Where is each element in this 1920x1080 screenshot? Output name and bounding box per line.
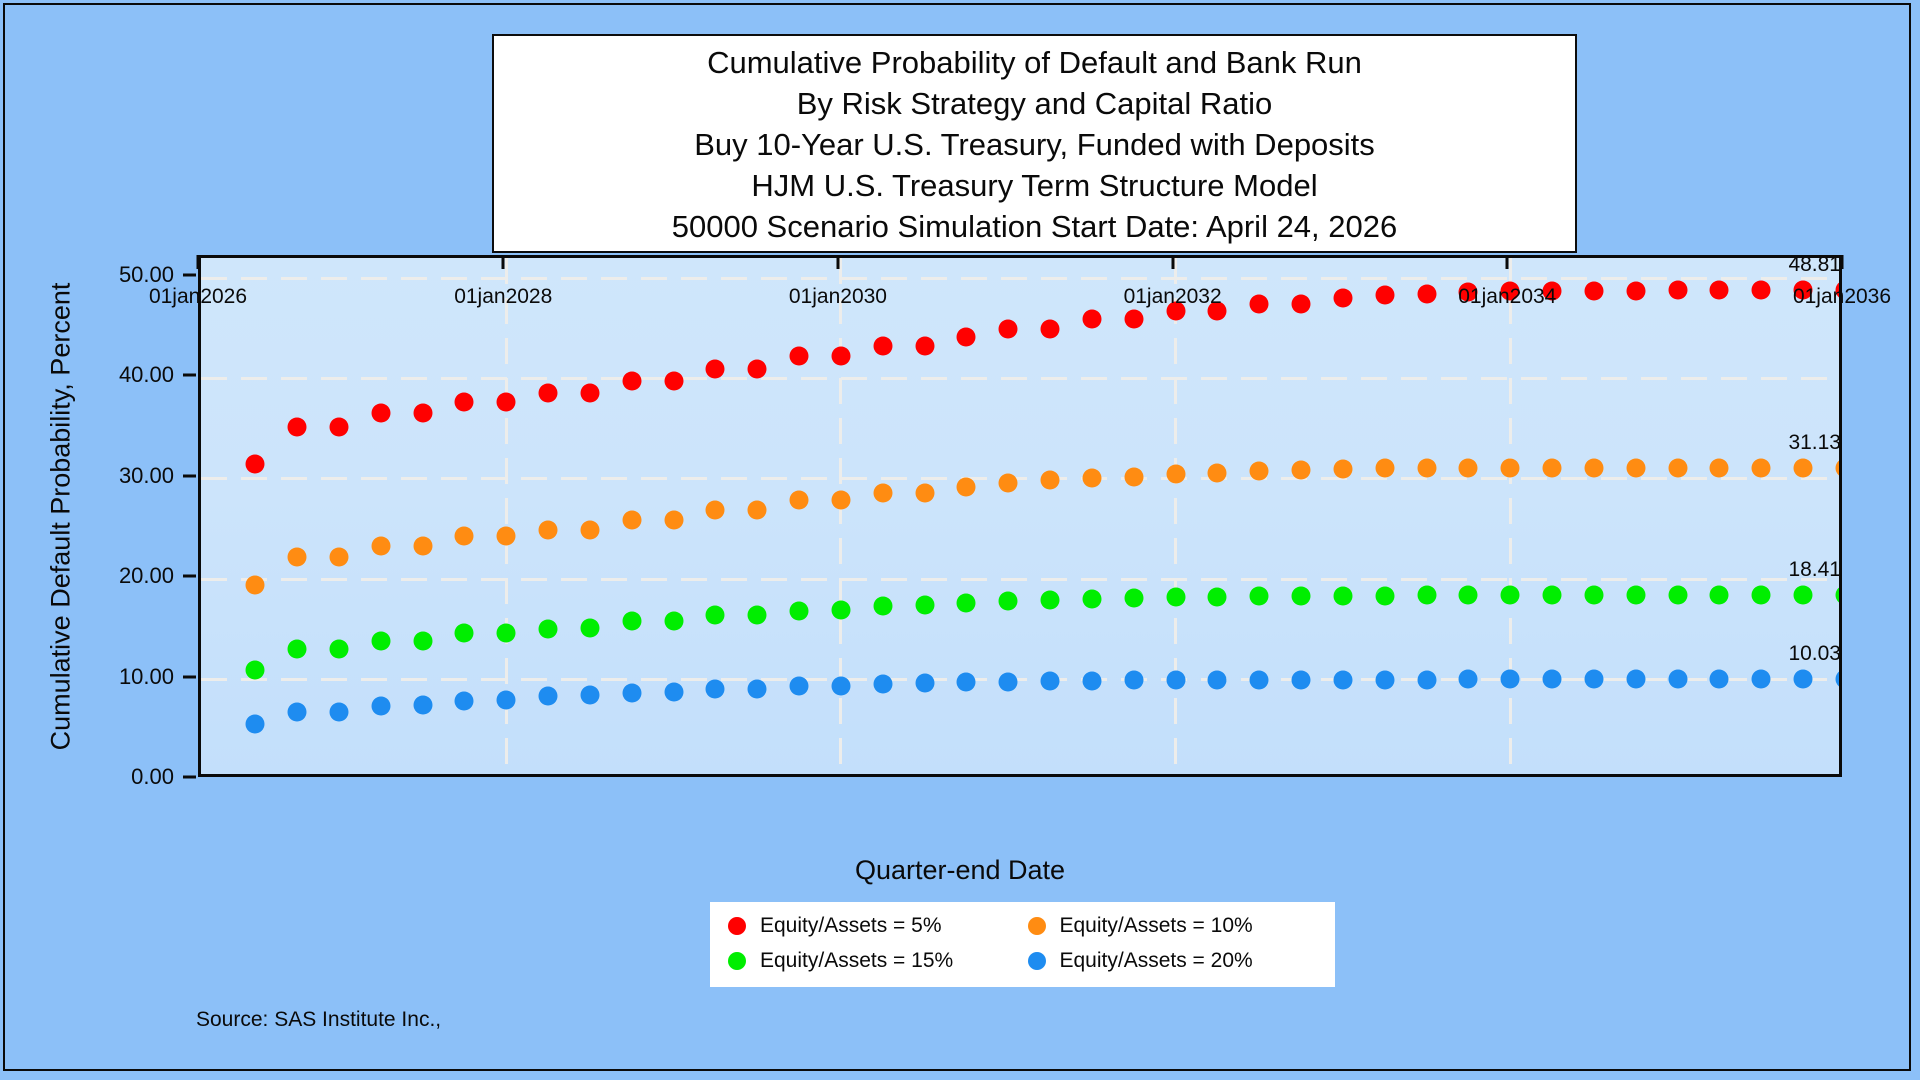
data-point [706,606,725,625]
legend-item-equity-5[interactable]: Equity/Assets = 5% [728,914,1018,938]
data-point [664,683,683,702]
data-point [1459,586,1478,605]
legend-marker-icon-orange [1028,917,1046,935]
data-point [1543,670,1562,689]
data-point [329,639,348,658]
data-point [497,623,516,642]
data-point [455,526,474,545]
data-point [1250,587,1269,606]
data-point [622,683,641,702]
data-point [1041,590,1060,609]
data-point [1333,459,1352,478]
data-point [622,511,641,530]
legend-marker-icon-red [728,917,746,935]
data-point [329,547,348,566]
data-point [329,418,348,437]
data-point [455,692,474,711]
data-point [748,605,767,624]
data-point [1752,670,1771,689]
y-tick-mark [183,274,196,277]
x-axis-title: Quarter-end Date [0,855,1920,886]
data-point [1292,587,1311,606]
data-point [246,454,265,473]
data-point [957,673,976,692]
data-point [1794,586,1813,605]
data-point [1626,458,1645,477]
series-end-label: 10.03 [1788,642,1841,666]
data-point [748,359,767,378]
chart-legend: Equity/Assets = 5% Equity/Assets = 10% E… [710,902,1335,987]
data-point [1250,670,1269,689]
y-tick-label: 50.00 [0,262,174,288]
gridline-horizontal [201,477,1839,480]
gridline-vertical [1509,258,1512,774]
data-point [371,404,390,423]
data-point [1082,589,1101,608]
data-point [288,639,307,658]
data-point [664,611,683,630]
x-tick-label: 01jan2030 [789,285,887,309]
data-point [1292,294,1311,313]
data-point [1668,670,1687,689]
data-point [1124,589,1143,608]
gridline-horizontal [201,277,1839,280]
data-point [497,526,516,545]
x-tick-label: 01jan2034 [1458,285,1556,309]
y-tick-mark [183,575,196,578]
data-point [999,473,1018,492]
data-point [1082,671,1101,690]
x-tick-label: 01jan2032 [1124,285,1222,309]
data-point [831,601,850,620]
data-point [1124,468,1143,487]
data-point [1584,670,1603,689]
y-tick-mark [183,776,196,779]
data-point [1208,587,1227,606]
y-axis-title: Cumulative Default Probability, Percent [44,255,78,777]
data-point [539,383,558,402]
data-point [1417,459,1436,478]
data-point [246,660,265,679]
gridline-vertical [839,258,842,774]
data-point [1124,671,1143,690]
title-line-5: 50000 Scenario Simulation Start Date: Ap… [504,206,1565,247]
title-line-4: HJM U.S. Treasury Term Structure Model [504,165,1565,206]
data-point [1501,458,1520,477]
data-point [1626,670,1645,689]
data-point [831,491,850,510]
data-point [915,596,934,615]
data-point [288,703,307,722]
data-point [539,619,558,638]
data-point [497,691,516,710]
data-point [371,536,390,555]
x-tick-mark [1506,255,1509,269]
data-point [413,536,432,555]
x-tick-mark [197,255,200,269]
data-point [831,346,850,365]
data-point [580,618,599,637]
data-point [873,675,892,694]
data-point [622,612,641,631]
data-point [664,511,683,530]
y-tick-label: 30.00 [0,463,174,489]
data-point [664,372,683,391]
data-point [246,575,265,594]
data-point [1166,671,1185,690]
data-point [1836,458,1843,477]
data-point [706,501,725,520]
data-point [790,601,809,620]
data-point [1082,310,1101,329]
data-point [873,336,892,355]
data-point [1041,471,1060,490]
data-point [1041,672,1060,691]
data-point [915,674,934,693]
data-point [539,520,558,539]
data-point [790,346,809,365]
data-point [1375,285,1394,304]
data-point [957,593,976,612]
data-point [1668,281,1687,300]
legend-item-equity-10[interactable]: Equity/Assets = 10% [1028,914,1318,938]
data-point [1836,670,1843,689]
data-point [1710,670,1729,689]
data-point [1041,319,1060,338]
series-end-label: 31.13 [1788,431,1841,455]
title-line-2: By Risk Strategy and Capital Ratio [504,83,1565,124]
data-point [1794,458,1813,477]
data-point [1375,670,1394,689]
data-point [455,623,474,642]
x-tick-label: 01jan2036 [1793,285,1891,309]
data-point [1166,588,1185,607]
data-point [1166,465,1185,484]
data-point [873,597,892,616]
data-point [957,327,976,346]
data-point [706,680,725,699]
data-point [1752,281,1771,300]
data-point [1668,586,1687,605]
data-point [413,696,432,715]
data-point [413,631,432,650]
data-point [329,702,348,721]
y-tick-label: 0.00 [0,764,174,790]
y-tick-mark [183,374,196,377]
data-point [915,483,934,502]
legend-marker-icon-blue [1028,952,1046,970]
gridline-vertical [1174,258,1177,774]
data-point [413,404,432,423]
data-point [1333,289,1352,308]
data-point [1584,458,1603,477]
data-point [748,501,767,520]
plot-wrapper: 01jan202601jan202801jan203001jan203201ja… [198,255,1842,777]
series-end-label: 18.41 [1788,558,1841,582]
data-point [1543,458,1562,477]
plot-area [198,255,1842,777]
legend-item-equity-20[interactable]: Equity/Assets = 20% [1028,949,1318,973]
legend-label: Equity/Assets = 5% [760,914,942,938]
data-point [1333,670,1352,689]
data-point [1250,294,1269,313]
data-point [580,383,599,402]
data-point [1459,670,1478,689]
data-point [455,392,474,411]
data-point [1710,458,1729,477]
data-point [1208,464,1227,483]
data-point [1501,586,1520,605]
data-point [1375,586,1394,605]
y-tick-mark [183,474,196,477]
data-point [539,687,558,706]
legend-marker-icon-green [728,952,746,970]
data-point [371,697,390,716]
data-point [246,714,265,733]
data-point [915,336,934,355]
data-point [1250,461,1269,480]
data-point [873,483,892,502]
data-point [1543,586,1562,605]
x-tick-mark [502,255,505,269]
data-point [999,672,1018,691]
data-point [999,319,1018,338]
data-point [1375,459,1394,478]
data-point [1710,281,1729,300]
x-tick-mark [836,255,839,269]
data-point [957,477,976,496]
data-point [1459,458,1478,477]
data-point [1752,458,1771,477]
data-point [999,592,1018,611]
data-point [1626,281,1645,300]
data-point [1668,458,1687,477]
data-point [1836,586,1843,605]
data-point [622,372,641,391]
data-point [1417,586,1436,605]
series-end-label: 48.81 [1788,253,1841,277]
y-tick-label: 40.00 [0,362,174,388]
title-line-3: Buy 10-Year U.S. Treasury, Funded with D… [504,124,1565,165]
data-point [497,392,516,411]
data-point [580,686,599,705]
data-point [1584,586,1603,605]
data-point [706,359,725,378]
data-point [1333,586,1352,605]
data-point [1710,586,1729,605]
data-point [831,676,850,695]
data-point [371,631,390,650]
title-line-1: Cumulative Probability of Default and Ba… [504,42,1565,83]
data-point [790,491,809,510]
y-tick-label: 10.00 [0,664,174,690]
data-point [1417,670,1436,689]
data-point [790,677,809,696]
data-point [1082,468,1101,487]
chart-title-box: Cumulative Probability of Default and Ba… [492,34,1577,253]
data-point [1626,586,1645,605]
data-point [288,547,307,566]
x-tick-label: 01jan2026 [149,285,247,309]
gridline-horizontal [201,377,1839,380]
data-point [1292,460,1311,479]
data-point [1124,310,1143,329]
data-point [1584,281,1603,300]
data-point [1292,670,1311,689]
data-point [1501,670,1520,689]
gridline-horizontal [201,578,1839,581]
data-point [1417,285,1436,304]
data-point [1794,670,1813,689]
legend-label: Equity/Assets = 20% [1060,949,1253,973]
legend-label: Equity/Assets = 15% [760,949,953,973]
data-point [580,520,599,539]
x-tick-label: 01jan2028 [454,285,552,309]
source-note: Source: SAS Institute Inc., [196,1008,441,1032]
y-tick-label: 20.00 [0,563,174,589]
data-point [1752,586,1771,605]
legend-item-equity-15[interactable]: Equity/Assets = 15% [728,949,1018,973]
data-point [1208,671,1227,690]
x-tick-mark [1171,255,1174,269]
data-point [288,418,307,437]
y-tick-mark [183,675,196,678]
legend-label: Equity/Assets = 10% [1060,914,1253,938]
data-point [748,679,767,698]
